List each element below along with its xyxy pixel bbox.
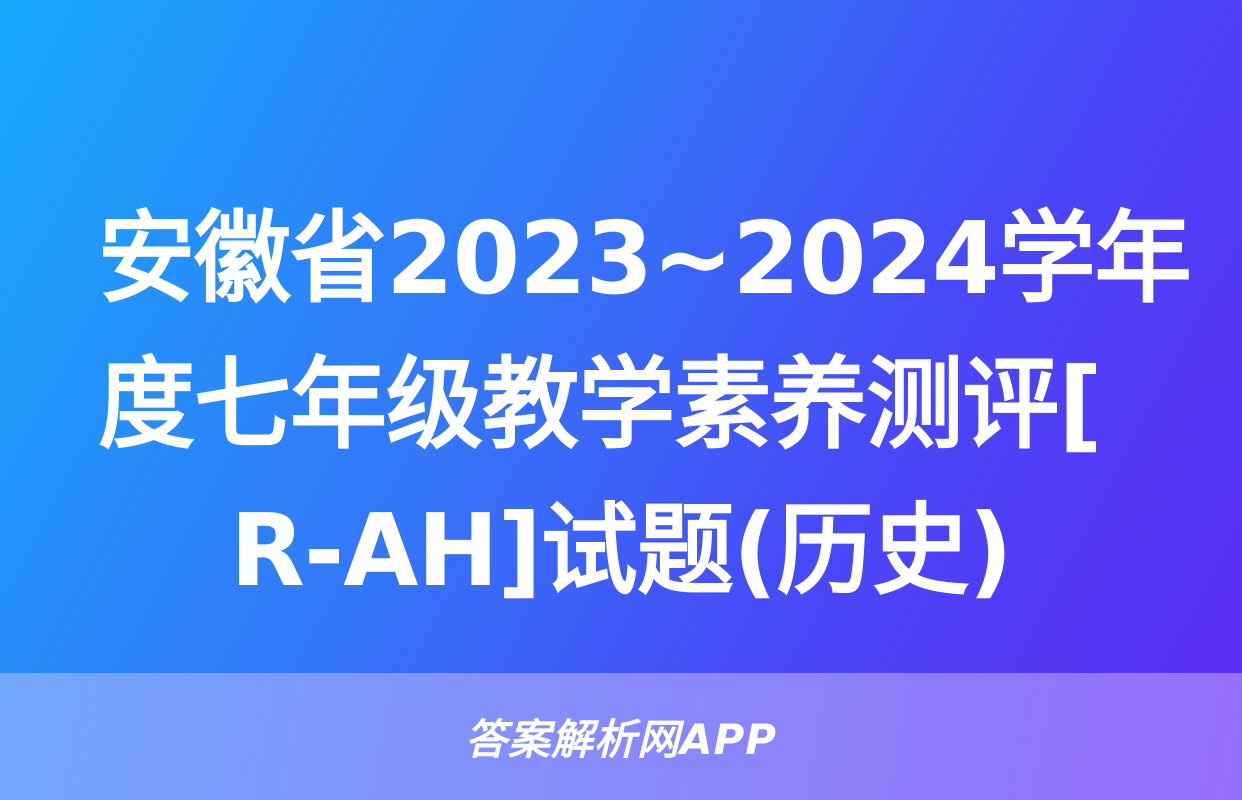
poster-title: 安徽省2023~2024学年 度七年级教学素养测评[ R-AH]试题(历史) [98,186,1144,626]
footer-watermark: 答案解析网APP [0,673,1242,800]
title-line-3: R-AH]试题(历史) [114,478,1129,624]
poster-canvas: 安徽省2023~2024学年 度七年级教学素养测评[ R-AH]试题(历史) 答… [0,0,1242,800]
title-line-1: 安徽省2023~2024学年 [98,186,1113,332]
title-line-2: 度七年级教学素养测评[ [98,332,1113,478]
footer-watermark-label: 答案解析网APP [465,706,777,767]
